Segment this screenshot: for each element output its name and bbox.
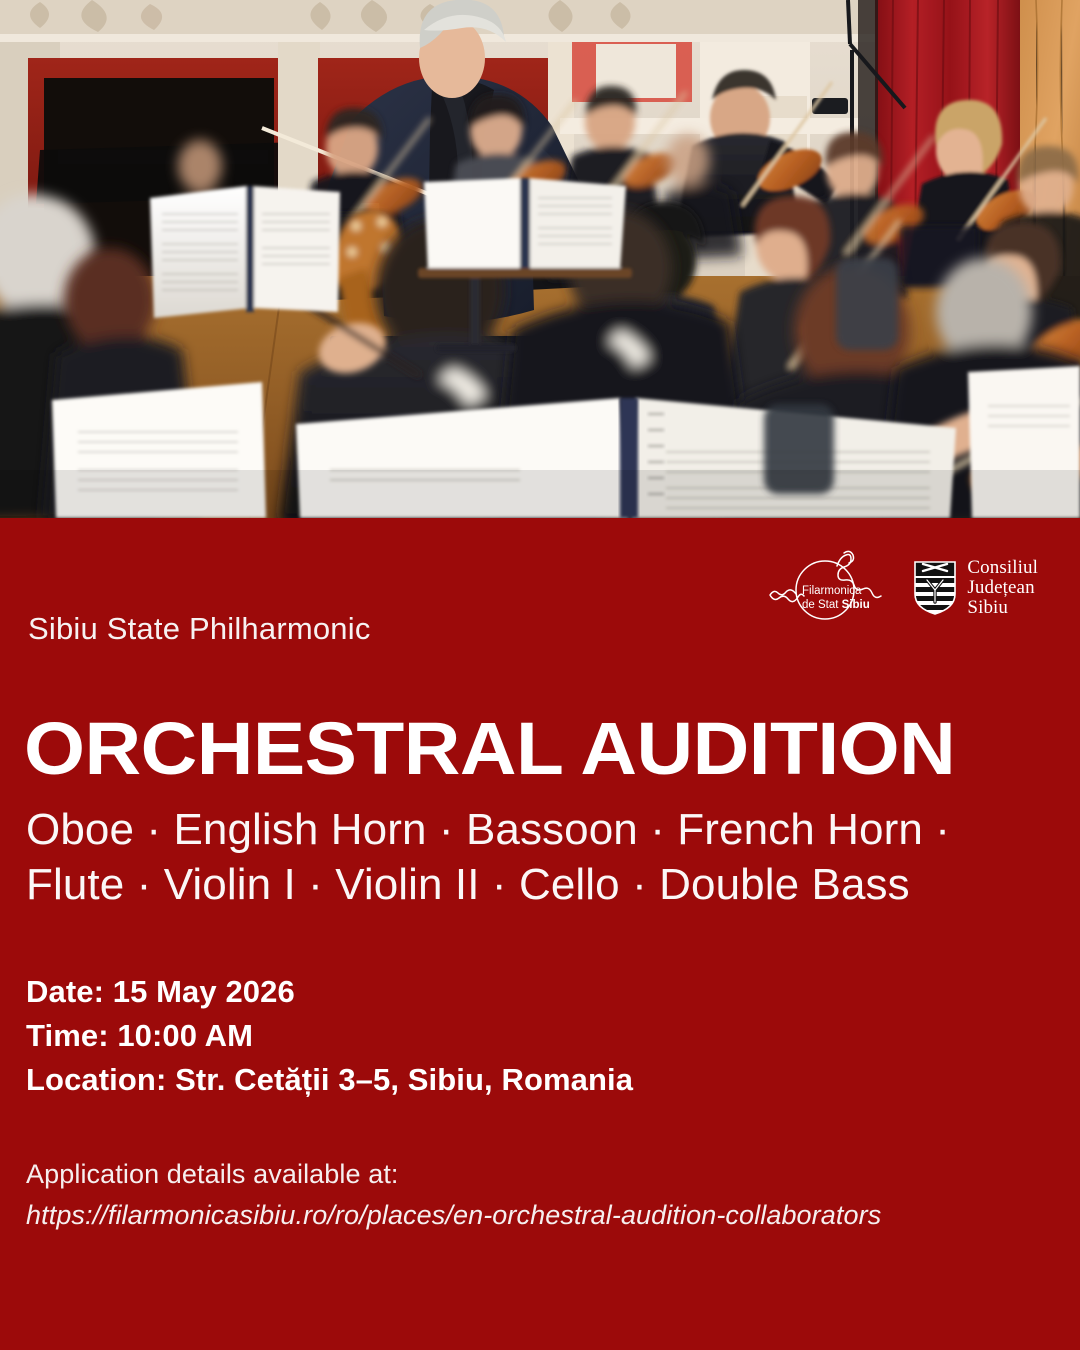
filarmonica-word: Filarmonica (802, 585, 862, 597)
event-time: Time: 10:00 AM (26, 1014, 633, 1058)
de-stat-word: de Stat (802, 599, 842, 611)
event-date: Date: 15 May 2026 (26, 970, 633, 1014)
logo-row: Filarmonica de Stat Sibiu (765, 550, 1038, 626)
svg-text:de Stat Sibiu: de Stat Sibiu (802, 599, 870, 611)
organization-name: Sibiu State Philharmonic (28, 611, 371, 647)
audition-poster: Filarmonica de Stat Sibiu (0, 0, 1080, 1350)
sibiu-word: Sibiu (842, 599, 870, 611)
consiliul-judetean-sibiu-logo: Consiliul Județean Sibiu (913, 558, 1038, 619)
application-url-link[interactable]: https://filarmonicasibiu.ro/ro/places/en… (26, 1195, 881, 1236)
event-location: Location: Str. Cetății 3–5, Sibiu, Roman… (26, 1058, 633, 1102)
info-panel: Filarmonica de Stat Sibiu (0, 518, 1080, 1350)
filarmonica-de-stat-sibiu-logo: Filarmonica de Stat Sibiu (765, 550, 891, 626)
instrument-list: Oboe · English Horn · Bassoon · French H… (26, 803, 1036, 912)
application-label: Application details available at: (26, 1154, 881, 1195)
consiliul-judetean-sibiu-text: Consiliul Județean Sibiu (967, 558, 1038, 619)
sibiu-county-shield-icon (913, 560, 957, 616)
instrument-list-line-2: Flute · Violin I · Violin II · Cello · D… (26, 858, 1036, 913)
event-details: Date: 15 May 2026 Time: 10:00 AM Locatio… (26, 970, 633, 1102)
page-title: ORCHESTRAL AUDITION (24, 712, 955, 786)
instrument-list-line-1: Oboe · English Horn · Bassoon · French H… (26, 803, 1036, 858)
application-info: Application details available at: https:… (26, 1154, 881, 1235)
orchestra-photo (0, 0, 1080, 518)
